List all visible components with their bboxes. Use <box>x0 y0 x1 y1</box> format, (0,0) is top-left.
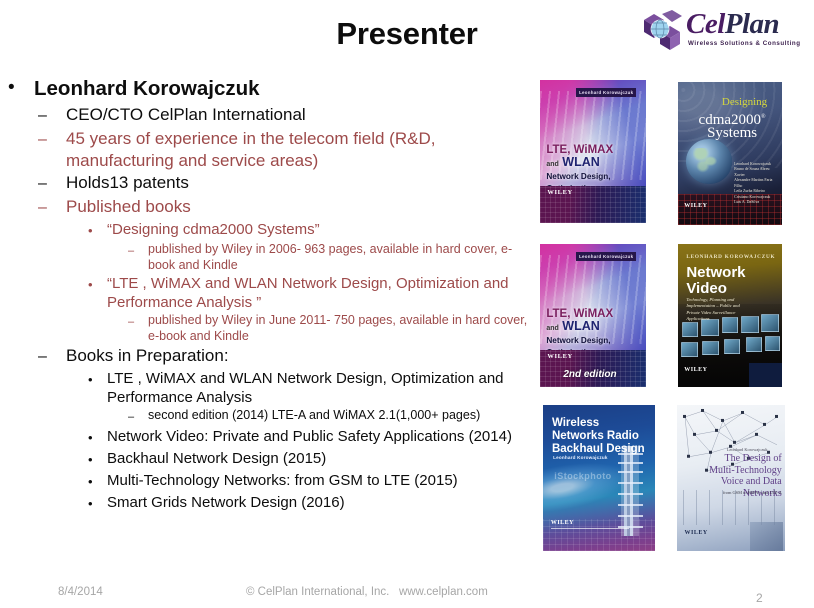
bullet-marker: – <box>128 408 148 426</box>
book-title-trademark: ® <box>761 114 766 120</box>
publisher-rule <box>551 528 629 529</box>
bullet-item: •Leonhard Korowajczuk <box>8 76 536 102</box>
bullet-marker: • <box>88 220 107 241</box>
bullet-item: •LTE , WiMAX and WLAN Network Design, Op… <box>88 369 536 407</box>
book-subtitle: from GSM to HSPA+ and LTE-A <box>709 490 781 495</box>
bullet-text: “Designing cdma2000 Systems” <box>107 220 536 239</box>
bullet-text: CEO/CTO CelPlan International <box>66 104 536 126</box>
book-title-line1: Wireless <box>552 417 599 429</box>
bullet-text: Holds13 patents <box>66 172 536 194</box>
bullet-item: –published by Wiley in 2006- 963 pages, … <box>128 242 536 273</box>
book-author: LEONHARD KOROWAJCZUK <box>686 254 775 260</box>
celplan-wordmark: CelPlan <box>686 9 779 39</box>
celplan-logo: CelPlan Wireless Solutions & Consulting <box>640 8 810 54</box>
bullet-item: •Network Video: Private and Public Safet… <box>88 427 536 448</box>
bullet-text: Multi-Technology Networks: from GSM to L… <box>107 471 536 490</box>
book-artwork-navy-block <box>749 363 782 387</box>
book-cover-lte-wimax-wlan-1st: Leonhard Korowajczuk LTE, WiMAX and WLAN… <box>540 80 646 223</box>
book-cover-designing-cdma2000: Designing cdma2000® Systems Leonhard Kor… <box>678 82 782 225</box>
bullet-marker: – <box>38 172 66 195</box>
bullet-item: –Holds13 patents <box>38 172 536 195</box>
book-author: Leonhard Korowajczuk <box>576 252 636 261</box>
footer-copyright: © CelPlan International, Inc. www.celpla… <box>246 586 488 598</box>
tower-graphic <box>750 522 782 551</box>
book-subtitle-line1: Network Design, <box>546 172 635 183</box>
bullet-item: •Multi-Technology Networks: from GSM to … <box>88 471 536 492</box>
book-publisher: WILEY <box>547 353 572 360</box>
radio-tower-graphic <box>621 446 639 537</box>
bullet-text: Published books <box>66 196 536 218</box>
bullet-marker: – <box>38 104 66 127</box>
bullet-text: Smart Grids Network Design (2016) <box>107 493 536 512</box>
bullet-marker: – <box>38 345 66 368</box>
bullet-marker: • <box>88 369 107 390</box>
bullet-marker: • <box>88 427 107 448</box>
book-publisher: WILEY <box>684 203 707 209</box>
book-title-line3: Backhaul Design <box>552 443 645 455</box>
slide-page-number: 2 <box>756 591 763 605</box>
book-title-line2: WLAN <box>562 155 600 169</box>
book-title-line2: Video <box>686 280 727 297</box>
stock-watermark: iStockphoto <box>554 471 644 481</box>
book-title-line1: Network <box>686 264 745 281</box>
bullet-text: second edition (2014) LTE-A and WiMAX 2.… <box>148 408 536 424</box>
book-title-line3: Voice and Data <box>721 476 782 487</box>
book-cover-multi-technology: Leonhard Korowajczuk The Design ofMulti-… <box>677 405 785 551</box>
bullet-text: Network Video: Private and Public Safety… <box>107 427 536 446</box>
book-publisher: WILEY <box>685 530 708 536</box>
bullet-item: –published by Wiley in June 2011- 750 pa… <box>128 313 536 344</box>
bullet-marker: • <box>8 76 34 100</box>
logo-tagline: Wireless Solutions & Consulting <box>688 40 801 47</box>
bullet-marker: • <box>88 471 107 492</box>
book-title-and: and <box>546 325 558 332</box>
bullet-marker: – <box>128 313 148 331</box>
book-cover-network-video: LEONHARD KOROWAJCZUK NetworkVideo Techno… <box>678 244 782 387</box>
book-author: Leonhard Korowajczuk <box>553 455 608 460</box>
book-edition-badge: 2nd edition <box>563 369 616 380</box>
book-cover-wireless-backhaul: WirelessNetworks RadioBackhaul Design Le… <box>543 405 655 551</box>
book-publisher: WILEY <box>684 367 707 373</box>
logo-word-cel: Cel <box>686 8 725 40</box>
book-subtitle: Technology, Planning and Implementation … <box>686 297 740 323</box>
bullet-text: Leonhard Korowajczuk <box>34 76 536 102</box>
bullet-marker: • <box>88 274 107 295</box>
book-subtitle-line1: Network Design, <box>546 336 635 347</box>
bullet-text: published by Wiley in June 2011- 750 pag… <box>148 313 536 344</box>
bullet-marker: – <box>38 128 66 151</box>
slide-body: •Leonhard Korowajczuk–CEO/CTO CelPlan In… <box>0 76 536 515</box>
book-title-line2: WLAN <box>562 319 600 333</box>
bullet-item: –CEO/CTO CelPlan International <box>38 104 536 127</box>
bullet-item: •“Designing cdma2000 Systems” <box>88 220 536 241</box>
bullet-item: •Backhaul Network Design (2015) <box>88 449 536 470</box>
bullet-text: published by Wiley in 2006- 963 pages, a… <box>148 242 536 273</box>
celplan-cube-icon <box>640 10 684 52</box>
book-authors: Leonhard Korowajczuk Bruno de Souza Abre… <box>734 162 778 205</box>
book-author: Leonhard Korowajczuk <box>714 447 781 452</box>
footer-date: 8/4/2014 <box>58 586 103 598</box>
book-title-line2: Networks Radio <box>552 430 639 442</box>
bullet-item: –second edition (2014) LTE-A and WiMAX 2… <box>128 408 536 426</box>
bullet-text: Backhaul Network Design (2015) <box>107 449 536 468</box>
book-title-line1: The Design of <box>725 453 782 464</box>
book-title-line2: Multi-Technology <box>709 465 782 476</box>
bullet-item: –45 years of experience in the telecom f… <box>38 128 536 171</box>
bullet-text: Books in Preparation: <box>66 345 536 367</box>
book-publisher: WILEY <box>547 189 572 196</box>
logo-word-plan: Plan <box>725 8 779 40</box>
bullet-marker: – <box>38 196 66 219</box>
bullet-item: –Published books <box>38 196 536 219</box>
bullet-marker: • <box>88 449 107 470</box>
bullet-marker: – <box>128 242 148 260</box>
bullet-item: •“LTE , WiMAX and WLAN Network Design, O… <box>88 274 536 312</box>
bullet-marker: • <box>88 493 107 514</box>
bullet-item: –Books in Preparation: <box>38 345 536 368</box>
bullet-text: “LTE , WiMAX and WLAN Network Design, Op… <box>107 274 536 312</box>
book-title-line1: Designing <box>709 96 780 108</box>
book-publisher: WILEY <box>551 520 574 526</box>
book-author: Leonhard Korowajczuk <box>576 88 636 97</box>
bullet-text: LTE , WiMAX and WLAN Network Design, Opt… <box>107 369 536 407</box>
bullet-item: •Smart Grids Network Design (2016) <box>88 493 536 514</box>
globe-graphic <box>686 139 732 183</box>
book-cover-lte-wimax-wlan-2nd: Leonhard Korowajczuk LTE, WiMAX and WLAN… <box>540 244 646 387</box>
book-title-line3: Systems <box>686 125 778 141</box>
book-title-and: and <box>546 161 558 168</box>
bullet-text: 45 years of experience in the telecom fi… <box>66 128 536 171</box>
